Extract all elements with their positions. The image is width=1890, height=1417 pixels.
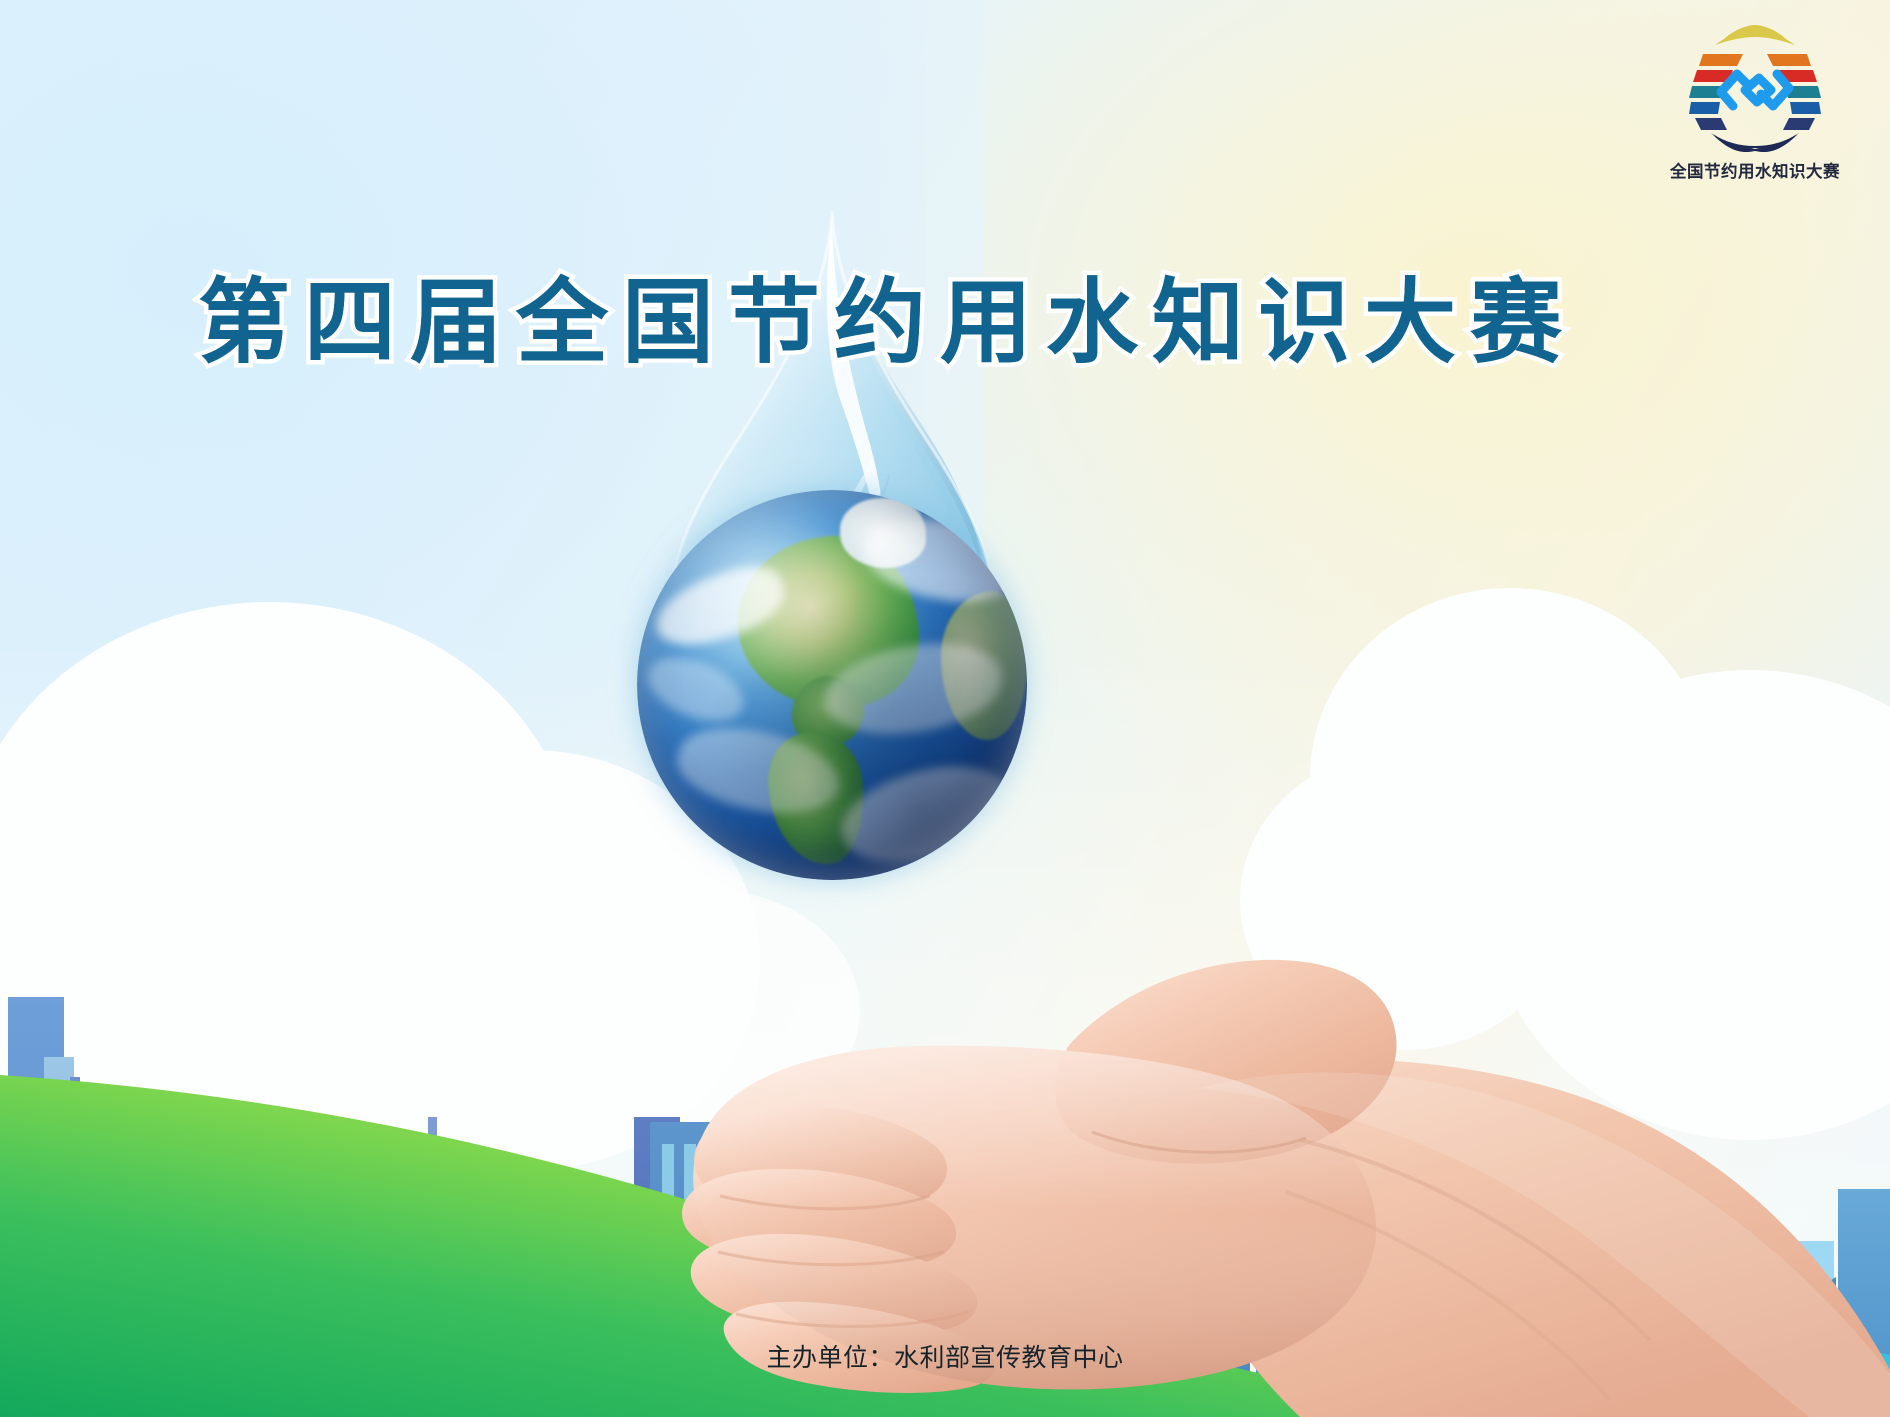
page-title: 第四届全国节约用水知识大赛 xyxy=(198,248,1576,381)
handshake-water-globe-icon xyxy=(1675,18,1835,156)
event-logo-caption: 全国节约用水知识大赛 xyxy=(1655,158,1855,182)
poster-canvas: 第四届全国节约用水知识大赛 第四届全国节约用水知识大赛 xyxy=(0,0,1890,1417)
event-logo: 全国节约用水知识大赛 xyxy=(1655,18,1855,198)
open-hand xyxy=(600,840,1890,1417)
earth-globe xyxy=(637,490,1027,880)
globe-rim-shadow xyxy=(637,490,1027,880)
organizer-line: 主办单位：水利部宣传教育中心 xyxy=(0,1338,1890,1374)
